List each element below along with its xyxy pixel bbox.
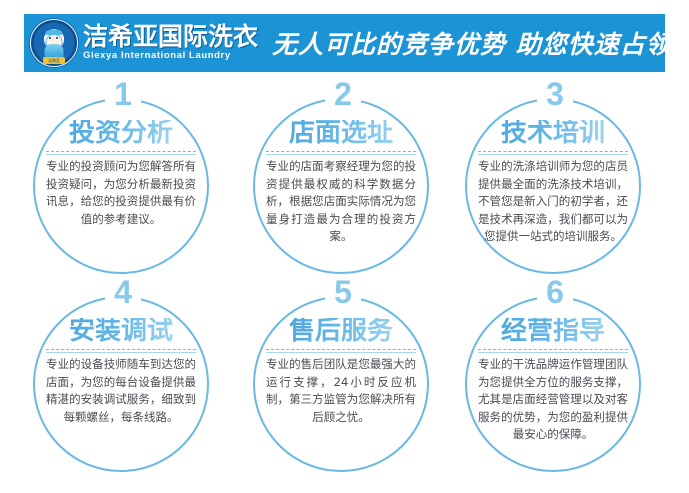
step-divider: [266, 151, 416, 154]
divider-dashed-line: [478, 151, 628, 152]
divider-solid-line: [266, 154, 416, 155]
divider-dashed-line: [478, 349, 628, 350]
brand-name-cn: 洁希亚国际洗衣: [83, 24, 258, 50]
step-title: 技术培训: [501, 120, 605, 147]
step-description: 专业的洗涤培训师为您的店员提供最全面的洗涤技术培训，不管您是新入门的初学者，还是…: [478, 158, 628, 245]
step-card-2[interactable]: 2 店面选址 专业的店面考察经理为您的投资提供最权威的科学数据分析，根据您店面实…: [243, 84, 443, 284]
step-content: 安装调试 专业的设备技师随车到达您的店面，为您的每台设备提供最精湛的安装调试服务…: [33, 296, 209, 472]
step-description: 专业的售后团队是您最强大的运行支撑，24小时反应机制，第三方监管为您解决所有后顾…: [266, 356, 416, 426]
banner-slogan: 无人可比的竞争优势 助您快速占领市场: [272, 25, 689, 61]
step-content: 技术培训 专业的洗涤培训师为您的店员提供最全面的洗涤技术培训，不管您是新入门的初…: [465, 98, 641, 274]
divider-solid-line: [46, 154, 196, 155]
badge-ribbon-label: 洁希亚: [43, 57, 65, 64]
step-content: 售后服务 专业的售后团队是您最强大的运行支撑，24小时反应机制，第三方监管为您解…: [253, 296, 429, 472]
divider-solid-line: [266, 352, 416, 353]
step-content: 投资分析 专业的投资顾问为您解答所有投资疑问，为您分析最新投资讯息，给您的投资提…: [33, 98, 209, 274]
step-content: 店面选址 专业的店面考察经理为您的投资提供最权威的科学数据分析，根据您店面实际情…: [253, 98, 429, 274]
brand-logo[interactable]: 洁希亚 洁希亚国际洗衣 Giexya International Laundry: [30, 19, 258, 67]
step-title: 店面选址: [289, 120, 393, 147]
step-description: 专业的投资顾问为您解答所有投资疑问，为您分析最新投资讯息，给您的投资提供最有价值…: [46, 158, 196, 228]
step-title: 售后服务: [289, 318, 393, 345]
step-content: 经营指导 专业的干洗品牌运作管理团队为您提供全方位的服务支撑，尤其是店面经营管理…: [465, 296, 641, 472]
step-title: 投资分析: [69, 120, 173, 147]
divider-solid-line: [478, 352, 628, 353]
step-card-4[interactable]: 4 安装调试 专业的设备技师随车到达您的店面，为您的每台设备提供最精湛的安装调试…: [23, 282, 223, 482]
divider-dashed-line: [46, 349, 196, 350]
step-divider: [478, 151, 628, 154]
step-description: 专业的干洗品牌运作管理团队为您提供全方位的服务支撑，尤其是店面经营管理以及对客服…: [478, 356, 628, 443]
divider-solid-line: [46, 352, 196, 353]
step-title: 经营指导: [501, 318, 605, 345]
step-card-6[interactable]: 6 经营指导 专业的干洗品牌运作管理团队为您提供全方位的服务支撑，尤其是店面经营…: [455, 282, 655, 482]
divider-dashed-line: [46, 151, 196, 152]
divider-dashed-line: [266, 349, 416, 350]
step-card-1[interactable]: 1 投资分析 专业的投资顾问为您解答所有投资疑问，为您分析最新投资讯息，给您的投…: [23, 84, 223, 284]
step-card-5[interactable]: 5 售后服务 专业的售后团队是您最强大的运行支撑，24小时反应机制，第三方监管为…: [243, 282, 443, 482]
step-divider: [266, 349, 416, 352]
divider-dashed-line: [266, 151, 416, 152]
mascot-badge-icon: 洁希亚: [30, 19, 78, 67]
step-divider: [46, 349, 196, 352]
header-banner: 洁希亚 洁希亚国际洗衣 Giexya International Laundry…: [24, 14, 665, 72]
step-card-3[interactable]: 3 技术培训 专业的洗涤培训师为您的店员提供最全面的洗涤技术培训，不管您是新入门…: [455, 84, 655, 284]
brand-wordmark: 洁希亚国际洗衣 Giexya International Laundry: [83, 24, 258, 61]
mascot-eye-left-icon: [49, 37, 51, 40]
step-title: 安装调试: [69, 318, 173, 345]
step-description: 专业的店面考察经理为您的投资提供最权威的科学数据分析，根据您店面实际情况为您量身…: [266, 158, 416, 245]
step-description: 专业的设备技师随车到达您的店面，为您的每台设备提供最精湛的安装调试服务，细致到每…: [46, 356, 196, 426]
divider-solid-line: [478, 154, 628, 155]
step-divider: [478, 349, 628, 352]
mascot-eye-right-icon: [56, 37, 58, 40]
step-divider: [46, 151, 196, 154]
service-steps-grid: 1 投资分析 专业的投资顾问为您解答所有投资疑问，为您分析最新投资讯息，给您的投…: [0, 78, 689, 493]
brand-name-en: Giexya International Laundry: [83, 51, 258, 61]
